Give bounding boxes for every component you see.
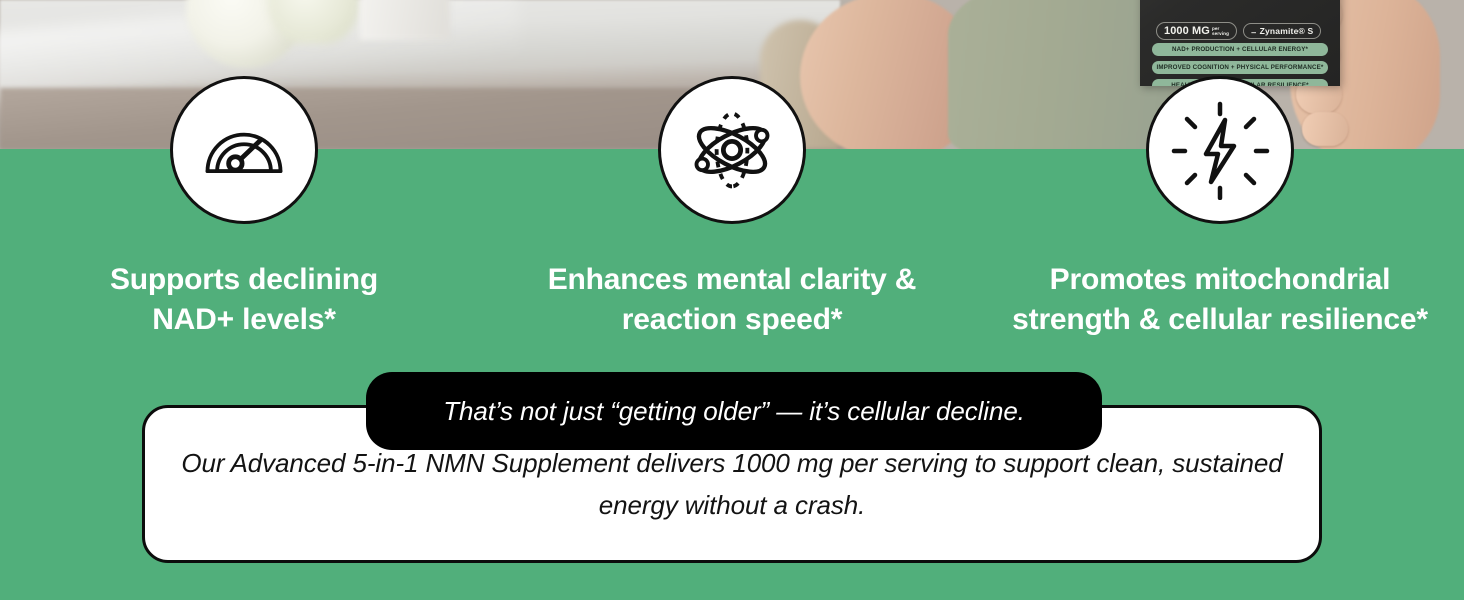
feature-title: Promotes mitochondrial strength & cellul…	[1012, 260, 1428, 339]
pill-banner: That’s not just “getting older” — it’s c…	[366, 372, 1102, 450]
lightning-bolt-icon	[1170, 100, 1270, 200]
feature-item-mitochondrial: Promotes mitochondrial strength & cellul…	[976, 0, 1464, 340]
feature-item-clarity: Enhances mental clarity & reaction speed…	[488, 0, 976, 340]
atom-icon-badge	[658, 76, 806, 224]
lightning-bolt-icon-badge	[1146, 76, 1294, 224]
gauge-icon-badge	[170, 76, 318, 224]
atom-icon	[684, 102, 780, 198]
feature-item-nad: Supports declining NAD+ levels*	[0, 0, 488, 340]
pill-banner-text: That’s not just “getting older” — it’s c…	[443, 396, 1025, 427]
info-card-text: Our Advanced 5-in-1 NMN Supplement deliv…	[172, 442, 1292, 526]
feature-list: Supports declining NAD+ levels* Enhances…	[0, 0, 1464, 340]
promo-banner: 1000 MGperserving ⚊ Zynamite® S NAD+ PRO…	[0, 0, 1464, 600]
feature-title: Supports declining NAD+ levels*	[110, 260, 378, 339]
feature-title: Enhances mental clarity & reaction speed…	[548, 260, 916, 339]
gauge-icon	[196, 102, 292, 198]
